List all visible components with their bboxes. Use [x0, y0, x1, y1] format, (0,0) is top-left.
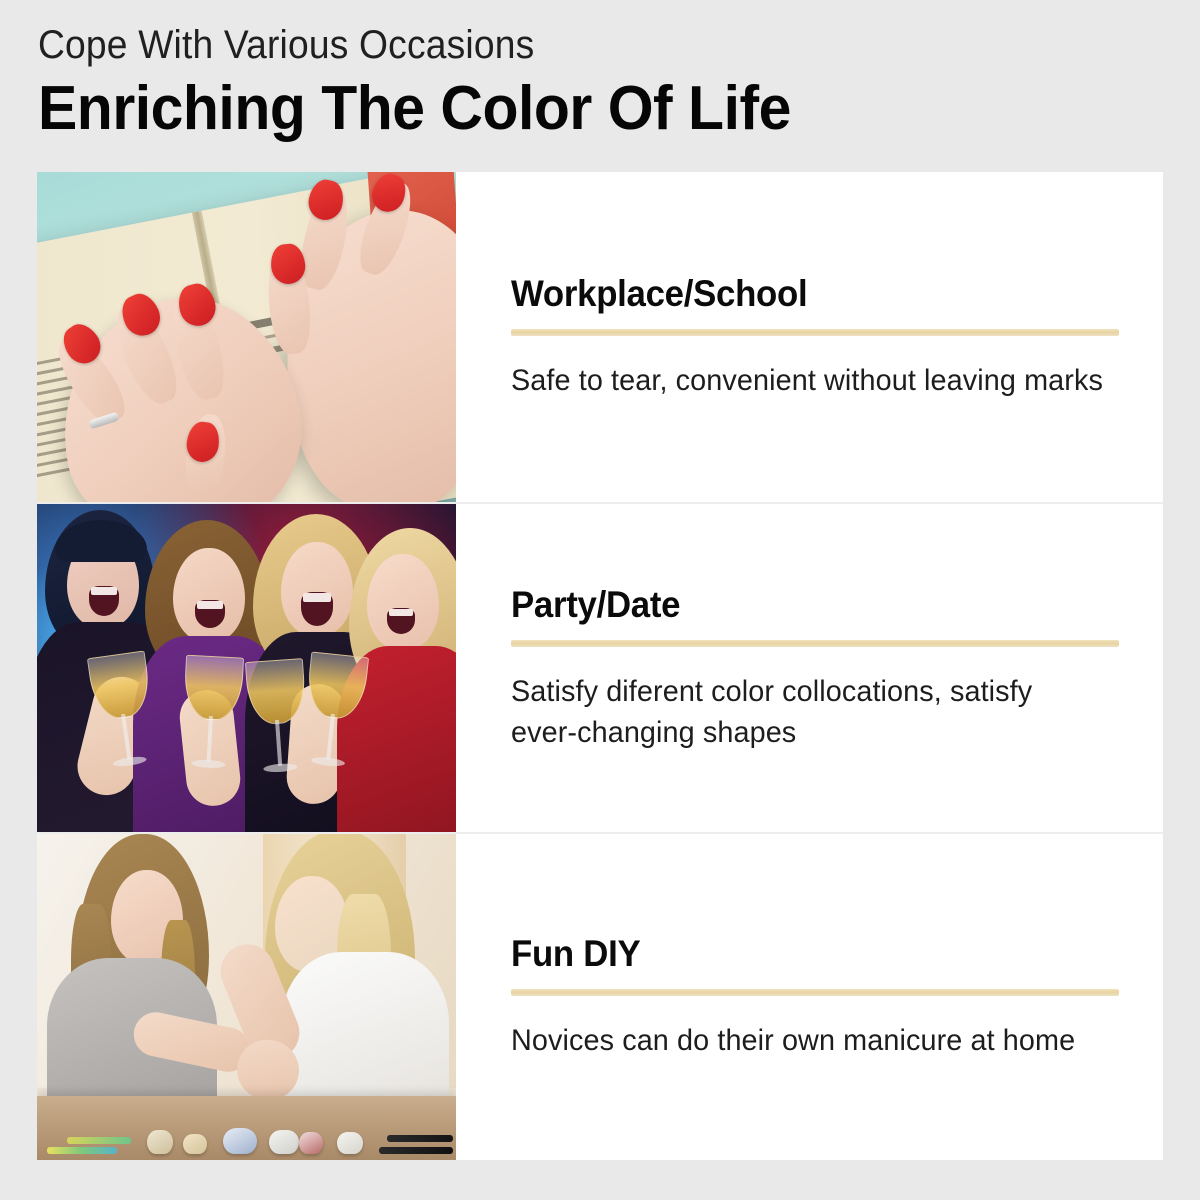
card-description: Safe to tear, convenient without leaving… [511, 360, 1106, 401]
card-title: Fun DIY [511, 933, 1101, 975]
card-body-fun-diy: Fun DIY Novices can do their own manicur… [456, 834, 1163, 1160]
gold-divider [511, 640, 1119, 647]
card-body-party-date: Party/Date Satisfy diferent color colloc… [456, 504, 1163, 832]
card-title: Party/Date [511, 584, 1101, 626]
page-title: Enriching The Color Of Life [38, 74, 1102, 144]
card-title: Workplace/School [511, 273, 1101, 315]
nail-brush [379, 1147, 453, 1154]
page-header: Cope With Various Occasions Enriching Th… [38, 22, 1158, 144]
header-eyebrow: Cope With Various Occasions [38, 22, 1080, 68]
nail-supply-jar [269, 1130, 299, 1154]
promo-page: Cope With Various Occasions Enriching Th… [0, 0, 1200, 1200]
nail-supply-jar [223, 1128, 257, 1154]
nail-supply-jar [147, 1130, 173, 1154]
card-description: Novices can do their own manicure at hom… [511, 1020, 1106, 1061]
nail-supply-jar [299, 1132, 323, 1154]
champagne-flute [180, 655, 242, 778]
card-image-workplace-school [37, 172, 456, 502]
nail-brush [47, 1147, 117, 1154]
card-body-workplace-school: Workplace/School Safe to tear, convenien… [456, 172, 1163, 502]
feature-card-workplace-school: Workplace/School Safe to tear, convenien… [37, 172, 1163, 502]
feature-card-fun-diy: Fun DIY Novices can do their own manicur… [37, 832, 1163, 1160]
nail-brush [67, 1137, 131, 1144]
feature-card-party-date: Party/Date Satisfy diferent color colloc… [37, 502, 1163, 832]
gold-divider [511, 989, 1119, 996]
card-description: Satisfy diferent color collocations, sat… [511, 671, 1106, 753]
card-image-party-date [37, 504, 456, 832]
feature-card-list: Workplace/School Safe to tear, convenien… [37, 172, 1163, 1160]
gold-divider [511, 329, 1119, 336]
card-image-fun-diy [37, 834, 456, 1160]
nail-supply-jar [183, 1134, 207, 1154]
nail-supply-jar [337, 1132, 363, 1154]
nail-brush [387, 1135, 453, 1142]
